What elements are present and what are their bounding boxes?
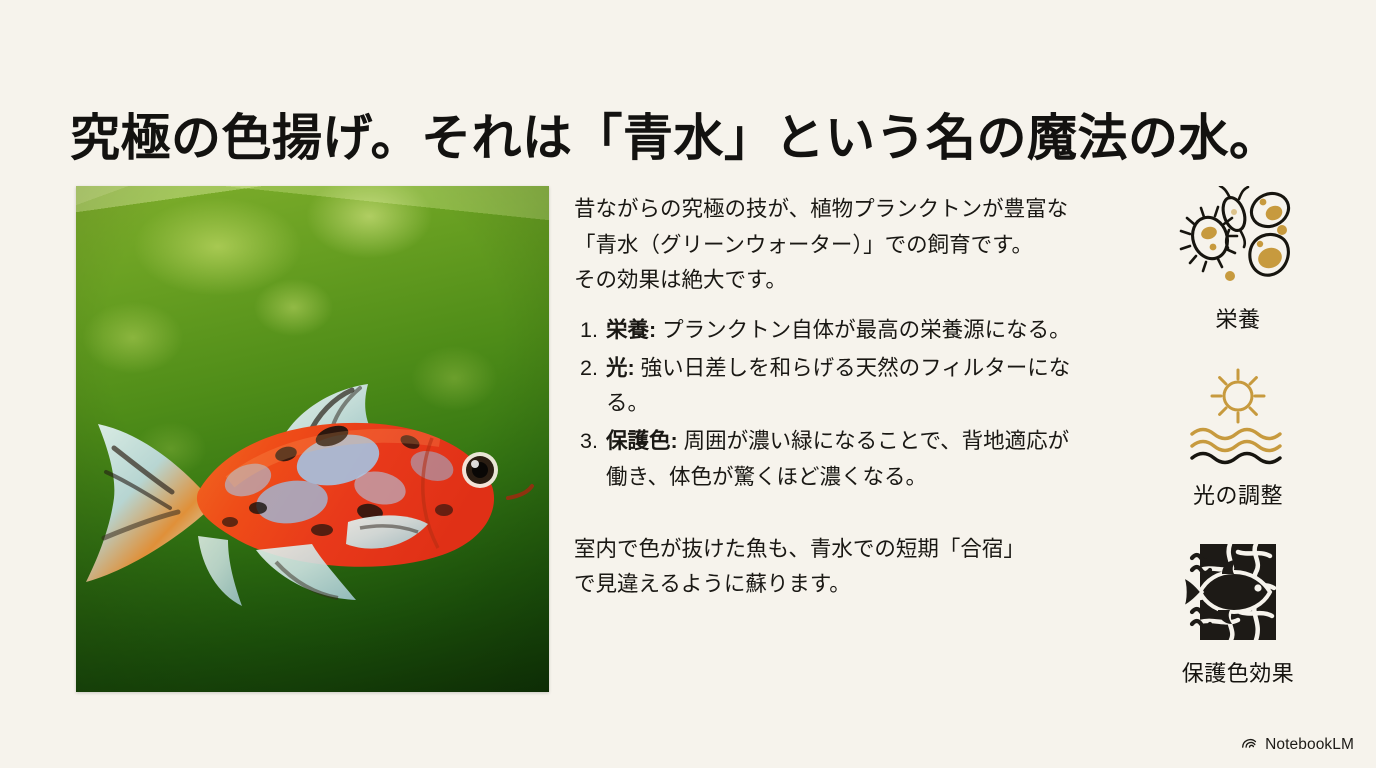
plankton-cells-icon: [1177, 186, 1299, 290]
icon-label-nutrition: 栄養: [1215, 302, 1260, 334]
notebooklm-wordmark: NotebookLM: [1265, 736, 1354, 754]
list-item-text: プランクトン自体が最高の栄養源になる。: [656, 318, 1070, 342]
camouflage-fish-icon: [1177, 540, 1299, 644]
list-item: 光: 強い日差しを和らげる天然のフィルターになる。: [574, 351, 1080, 422]
benefit-icon-column: 栄養: [1118, 186, 1358, 688]
page-title: 究極の色揚げ。それは「青水」という名の魔法の水。: [70, 110, 1320, 167]
body-text-column: 昔ながらの究極の技が、植物プランクトンが豊富な 「青水（グリーンウォーター）」で…: [574, 192, 1080, 603]
list-item-label: 栄養:: [606, 318, 656, 342]
icon-block-camouflage: 保護色効果: [1177, 540, 1299, 688]
list-item-label: 保護色:: [606, 429, 678, 453]
list-item-label: 光:: [606, 356, 635, 380]
list-item: 栄養: プランクトン自体が最高の栄養源になる。: [574, 313, 1080, 349]
icon-block-nutrition: 栄養: [1177, 186, 1299, 334]
list-item: 保護色: 周囲が濃い緑になることで、背地適応が働き、体色が驚くほど濃くなる。: [574, 424, 1080, 495]
sun-over-waves-icon: [1177, 362, 1299, 466]
intro-line-1: 昔ながらの究極の技が、植物プランクトンが豊富な: [574, 192, 1080, 228]
goldfish-illustration: [80, 362, 546, 622]
outro-line-1: 室内で色が抜けた魚も、青水での短期「合宿」: [574, 532, 1080, 568]
icon-label-camouflage: 保護色効果: [1182, 656, 1295, 688]
intro-paragraph: 昔ながらの究極の技が、植物プランクトンが豊富な 「青水（グリーンウォーター）」で…: [574, 192, 1080, 299]
notebooklm-arc-icon: [1241, 735, 1258, 754]
benefits-list: 栄養: プランクトン自体が最高の栄養源になる。 光: 強い日差しを和らげる天然の…: [574, 313, 1080, 495]
notebooklm-footer: NotebookLM: [1241, 735, 1354, 754]
outro-paragraph: 室内で色が抜けた魚も、青水での短期「合宿」 で見違えるように蘇ります。: [574, 532, 1080, 603]
icon-label-light: 光の調整: [1193, 478, 1283, 510]
outro-line-2: で見違えるように蘇ります。: [574, 567, 1080, 603]
intro-line-2: 「青水（グリーンウォーター）」での飼育です。: [574, 228, 1080, 264]
icon-block-light: 光の調整: [1177, 362, 1299, 510]
intro-line-3: その効果は絶大です。: [574, 263, 1080, 299]
goldfish-photo: [76, 186, 549, 692]
list-item-text: 強い日差しを和らげる天然のフィルターになる。: [606, 356, 1070, 416]
slide-canvas: 究極の色揚げ。それは「青水」という名の魔法の水。: [0, 0, 1376, 768]
